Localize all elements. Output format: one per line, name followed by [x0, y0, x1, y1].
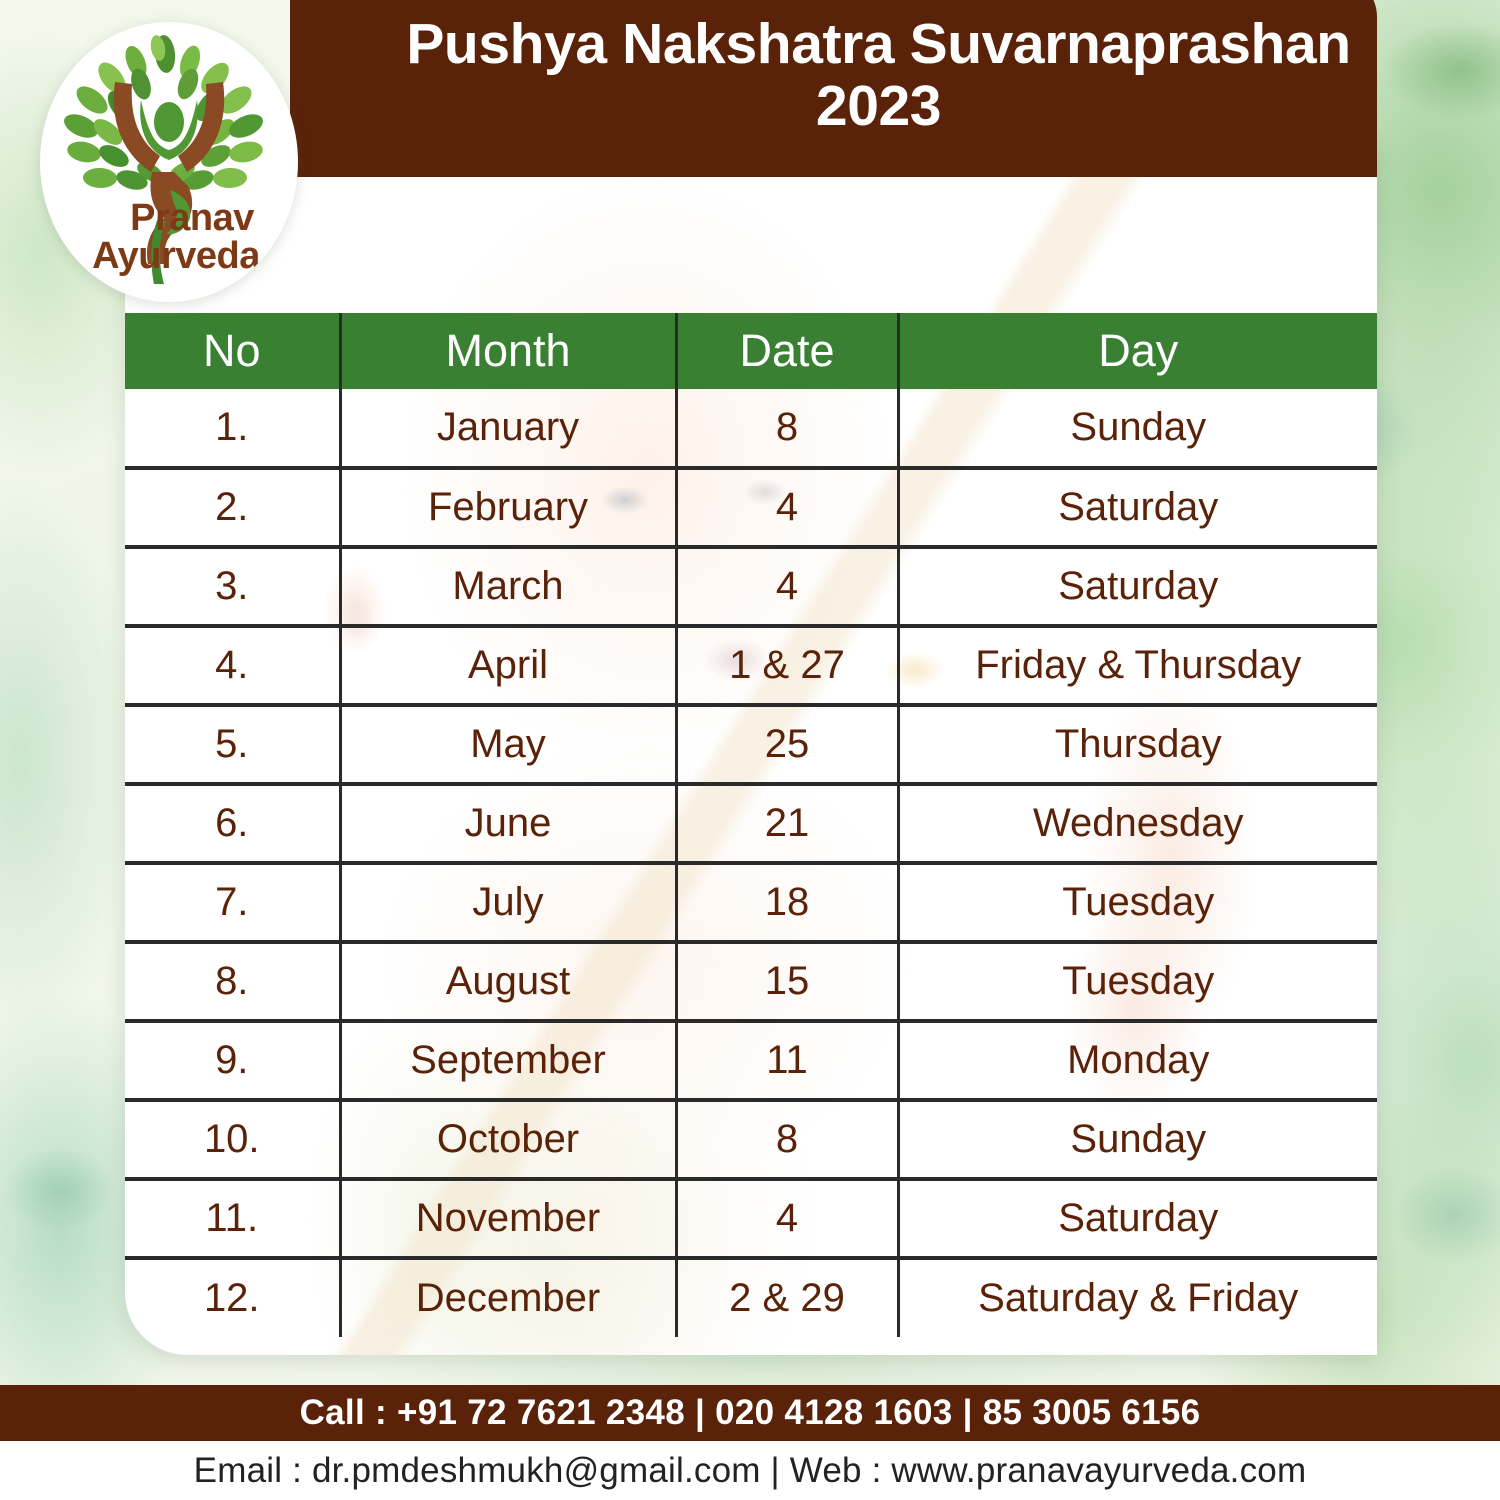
cell-day: Wednesday [898, 784, 1377, 863]
cell-month: June [340, 784, 676, 863]
cell-date: 8 [676, 389, 898, 468]
table-row: 4.April1 & 27Friday & Thursday [125, 626, 1377, 705]
cell-date: 2 & 29 [676, 1258, 898, 1337]
cell-date: 4 [676, 547, 898, 626]
cell-no: 5. [125, 705, 340, 784]
cell-month: February [340, 468, 676, 547]
cell-day: Tuesday [898, 942, 1377, 1021]
cell-day: Sunday [898, 389, 1377, 468]
cell-month: October [340, 1100, 676, 1179]
calendar-card: No Month Date Day 1.January8Sunday2.Febr… [125, 140, 1377, 1355]
cell-no: 8. [125, 942, 340, 1021]
cell-no: 2. [125, 468, 340, 547]
pranav-ayurveda-logo: Pranav Ayurveda [40, 22, 298, 302]
title-banner: Pushya Nakshatra Suvarnaprashan 2023 [290, 0, 1377, 177]
cell-month: March [340, 547, 676, 626]
cell-no: 4. [125, 626, 340, 705]
cell-no: 7. [125, 863, 340, 942]
cell-month: January [340, 389, 676, 468]
table-row: 6.June21Wednesday [125, 784, 1377, 863]
cell-day: Friday & Thursday [898, 626, 1377, 705]
table-body: 1.January8Sunday2.February4Saturday3.Mar… [125, 389, 1377, 1337]
cell-no: 1. [125, 389, 340, 468]
page-title: Pushya Nakshatra Suvarnaprashan 2023 [290, 14, 1377, 137]
logo-text-line2: Ayurveda [40, 238, 298, 275]
cell-no: 11. [125, 1179, 340, 1258]
cell-date: 1 & 27 [676, 626, 898, 705]
cell-month: April [340, 626, 676, 705]
cell-date: 11 [676, 1021, 898, 1100]
table-row: 10.October8Sunday [125, 1100, 1377, 1179]
table-row: 2.February4Saturday [125, 468, 1377, 547]
cell-no: 12. [125, 1258, 340, 1337]
logo-text-line1: Pranav [40, 200, 298, 237]
column-header-no: No [125, 313, 340, 389]
table-row: 5.May25Thursday [125, 705, 1377, 784]
cell-date: 21 [676, 784, 898, 863]
footer-phone-text: Call : +91 72 7621 2348 | 020 4128 1603 … [300, 1393, 1201, 1433]
cell-day: Saturday [898, 468, 1377, 547]
column-header-date: Date [676, 313, 898, 389]
cell-no: 6. [125, 784, 340, 863]
table-row: 12.December2 & 29Saturday & Friday [125, 1258, 1377, 1337]
cell-month: August [340, 942, 676, 1021]
suvarnaprashan-table-wrapper: No Month Date Day 1.January8Sunday2.Febr… [125, 313, 1377, 1337]
cell-date: 4 [676, 1179, 898, 1258]
cell-date: 4 [676, 468, 898, 547]
column-header-day: Day [898, 313, 1377, 389]
table-row: 11.November4Saturday [125, 1179, 1377, 1258]
footer-call-bar: Call : +91 72 7621 2348 | 020 4128 1603 … [0, 1385, 1500, 1441]
cell-day: Saturday & Friday [898, 1258, 1377, 1337]
table-row: 1.January8Sunday [125, 389, 1377, 468]
table-row: 3.March4Saturday [125, 547, 1377, 626]
cell-no: 10. [125, 1100, 340, 1179]
cell-month: November [340, 1179, 676, 1258]
column-header-month: Month [340, 313, 676, 389]
cell-day: Tuesday [898, 863, 1377, 942]
cell-month: May [340, 705, 676, 784]
footer-email-text: Email : dr.pmdeshmukh@gmail.com | Web : … [0, 1441, 1500, 1500]
cell-day: Monday [898, 1021, 1377, 1100]
cell-day: Thursday [898, 705, 1377, 784]
cell-date: 25 [676, 705, 898, 784]
cell-day: Saturday [898, 547, 1377, 626]
table-header-row: No Month Date Day [125, 313, 1377, 389]
suvarnaprashan-table: No Month Date Day 1.January8Sunday2.Febr… [125, 313, 1377, 1337]
cell-day: Saturday [898, 1179, 1377, 1258]
table-row: 9.September11Monday [125, 1021, 1377, 1100]
cell-date: 15 [676, 942, 898, 1021]
cell-date: 18 [676, 863, 898, 942]
cell-month: September [340, 1021, 676, 1100]
table-head: No Month Date Day [125, 313, 1377, 389]
table-row: 7.July18Tuesday [125, 863, 1377, 942]
cell-day: Sunday [898, 1100, 1377, 1179]
cell-month: July [340, 863, 676, 942]
cell-date: 8 [676, 1100, 898, 1179]
cell-no: 3. [125, 547, 340, 626]
cell-no: 9. [125, 1021, 340, 1100]
cell-month: December [340, 1258, 676, 1337]
table-row: 8.August15Tuesday [125, 942, 1377, 1021]
